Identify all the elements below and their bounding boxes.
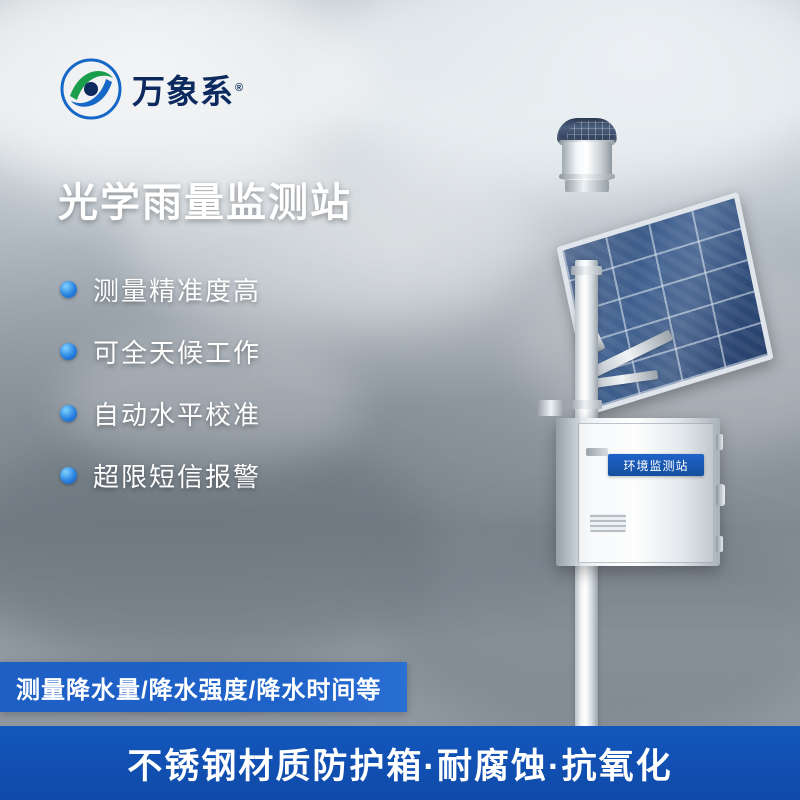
capability-ribbon: 测量降水量/降水强度/降水时间等 [0, 662, 407, 712]
brand-name-text: 万象系 [132, 73, 234, 110]
enclosure-hinge [716, 536, 723, 552]
page-title: 光学雨量监测站 [58, 170, 352, 228]
feature-label: 测量精准度高 [93, 271, 261, 308]
feature-list: 测量精准度高 可全天候工作 自动水平校准 超限短信报警 [60, 258, 261, 506]
enclosure-latch [716, 484, 725, 506]
enclosure-slot [586, 448, 608, 456]
trademark-symbol: ® [235, 82, 244, 94]
enclosure-hinge [716, 434, 723, 450]
optical-rain-sensor-head [551, 118, 623, 188]
list-item: 测量精准度高 [60, 258, 261, 320]
feature-label: 可全天候工作 [93, 333, 261, 370]
list-item: 自动水平校准 [60, 382, 261, 444]
dome-grid [567, 121, 619, 141]
weather-station-illustration: 环境监测站 [430, 100, 800, 700]
sensor-ring [559, 174, 615, 179]
list-item: 超限短信报警 [60, 444, 261, 506]
capability-ribbon-text: 测量降水量/降水强度/降水时间等 [16, 670, 381, 705]
enclosure-side [556, 418, 580, 566]
bullet-dot-icon [60, 343, 77, 360]
list-item: 可全天候工作 [60, 320, 261, 382]
enclosure-vent [590, 514, 626, 532]
bullet-dot-icon [60, 405, 77, 422]
feature-label: 自动水平校准 [93, 395, 261, 432]
bullet-dot-icon [60, 281, 77, 298]
product-poster: 环境监测站 万象系® 光学雨量监测站 测量精准度高 [0, 0, 800, 800]
enclosure-label-text: 环境监测站 [623, 457, 688, 474]
enclosure-label-plate: 环境监测站 [608, 454, 704, 476]
brand-name: 万象系® [132, 65, 244, 113]
bullet-dot-icon [60, 467, 77, 484]
enclosure-mount [538, 400, 564, 416]
enclosure-door [578, 423, 714, 563]
bottom-banner: 不锈钢材质防护箱·耐腐蚀·抗氧化 [0, 726, 800, 800]
stainless-steel-enclosure: 环境监测站 [556, 418, 720, 566]
sensor-base [565, 180, 609, 192]
bottom-banner-text: 不锈钢材质防护箱·耐腐蚀·抗氧化 [127, 738, 672, 789]
feature-label: 超限短信报警 [93, 457, 261, 494]
pole-collar [571, 266, 602, 275]
swirl-logo-icon [60, 58, 122, 120]
brand-logo: 万象系® [60, 58, 244, 120]
pole-collar [571, 400, 602, 409]
